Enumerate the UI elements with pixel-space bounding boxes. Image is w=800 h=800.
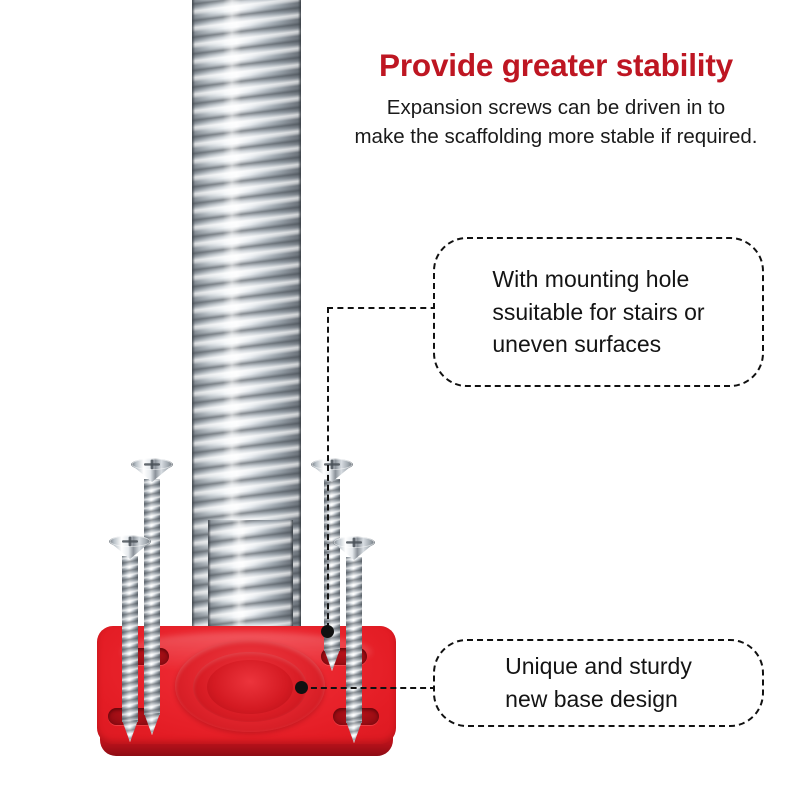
page-title: Provide greater stability [330, 48, 782, 83]
product-infographic: Provide greater stability Expansion scre… [0, 0, 800, 800]
callout-mounting-hole-line-3: uneven surfaces [492, 328, 704, 361]
screw-4-shaft [346, 557, 362, 723]
screw-4-countersunk-head [333, 536, 375, 560]
rod-left-edge [192, 0, 195, 684]
page-subtitle: Expansion screws can be driven in to mak… [330, 93, 782, 151]
heading-block: Provide greater stability Expansion scre… [330, 48, 782, 151]
callout-mounting-hole-text: With mounting hole ssuitable for stairs … [492, 263, 704, 361]
page-subtitle-line-1: Expansion screws can be driven in to [330, 93, 782, 122]
screw-3-countersunk-head [311, 458, 353, 482]
callout-base-design-line-1: Unique and sturdy [505, 650, 692, 683]
leader-line-mounting-hole-vertical [327, 307, 329, 629]
screw-1-shaft [144, 479, 160, 715]
callout-base-design: Unique and sturdy new base design [433, 639, 764, 727]
leader-anchor-dot-mounting-hole [321, 625, 334, 638]
leader-line-base-design-horizontal [301, 687, 436, 689]
callout-base-design-text: Unique and sturdy new base design [505, 650, 692, 715]
callout-mounting-hole: With mounting hole ssuitable for stairs … [433, 237, 764, 387]
callout-mounting-hole-line-1: With mounting hole [492, 263, 704, 296]
rod-right-edge [298, 0, 301, 684]
screw-2-shaft [122, 556, 138, 722]
callout-mounting-hole-line-2: ssuitable for stairs or [492, 296, 704, 329]
screw-2-thread-pattern [122, 556, 138, 722]
screw-1-thread-pattern [144, 479, 160, 715]
page-subtitle-line-2: make the scaffolding more stable if requ… [330, 122, 782, 151]
screw-2-countersunk-head [109, 535, 151, 559]
screw-4-thread-pattern [346, 557, 362, 723]
base-plate-boss-inner-ring [207, 660, 293, 714]
leader-anchor-dot-base-design [295, 681, 308, 694]
leader-line-mounting-hole-horizontal [327, 307, 447, 309]
screw-1-countersunk-head [131, 458, 173, 482]
callout-base-design-line-2: new base design [505, 683, 692, 716]
